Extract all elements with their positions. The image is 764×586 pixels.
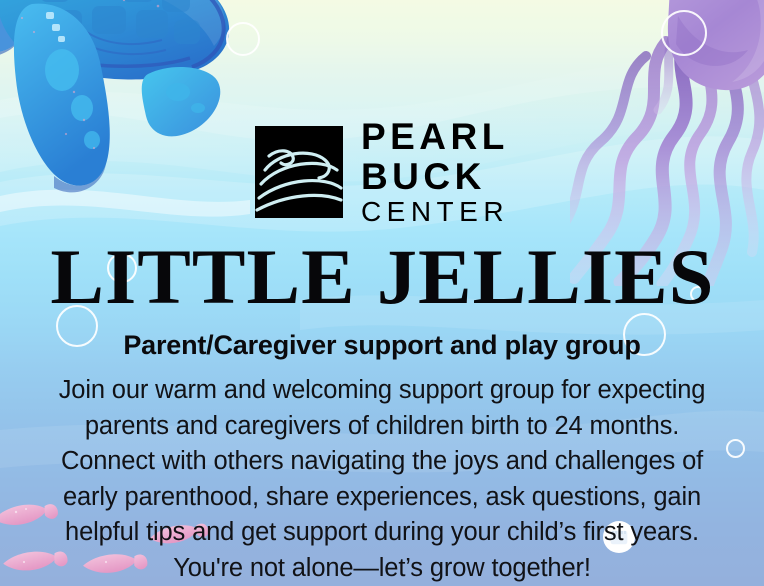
body-line: helpful tips and get support during your… [32, 515, 732, 551]
logo-line-buck: BUCK [361, 158, 509, 195]
logo-line-pearl: PEARL [361, 118, 509, 155]
body-line: Join our warm and welcoming support grou… [32, 373, 732, 409]
logo-line-center: CENTER [361, 198, 509, 226]
page-subtitle: Parent/Caregiver support and play group [123, 330, 640, 361]
body-line: You're not alone—let’s grow together! [32, 551, 732, 586]
body-paragraph: Join our warm and welcoming support grou… [32, 373, 732, 586]
logo-wordmark: PEARL BUCK CENTER [361, 118, 509, 226]
body-line: parents and caregivers of children birth… [32, 409, 732, 445]
pearl-buck-center-logo: PEARL BUCK CENTER [255, 118, 509, 226]
flyer-content: PEARL BUCK CENTER LITTLE JELLIES Parent/… [0, 0, 764, 586]
body-line: Connect with others navigating the joys … [32, 444, 732, 480]
pearl-buck-ripple-mark [255, 126, 343, 218]
flyer-canvas: PEARL BUCK CENTER LITTLE JELLIES Parent/… [0, 0, 764, 586]
page-title: LITTLE JELLIES [50, 238, 714, 316]
body-line: early parenthood, share experiences, ask… [32, 480, 732, 516]
